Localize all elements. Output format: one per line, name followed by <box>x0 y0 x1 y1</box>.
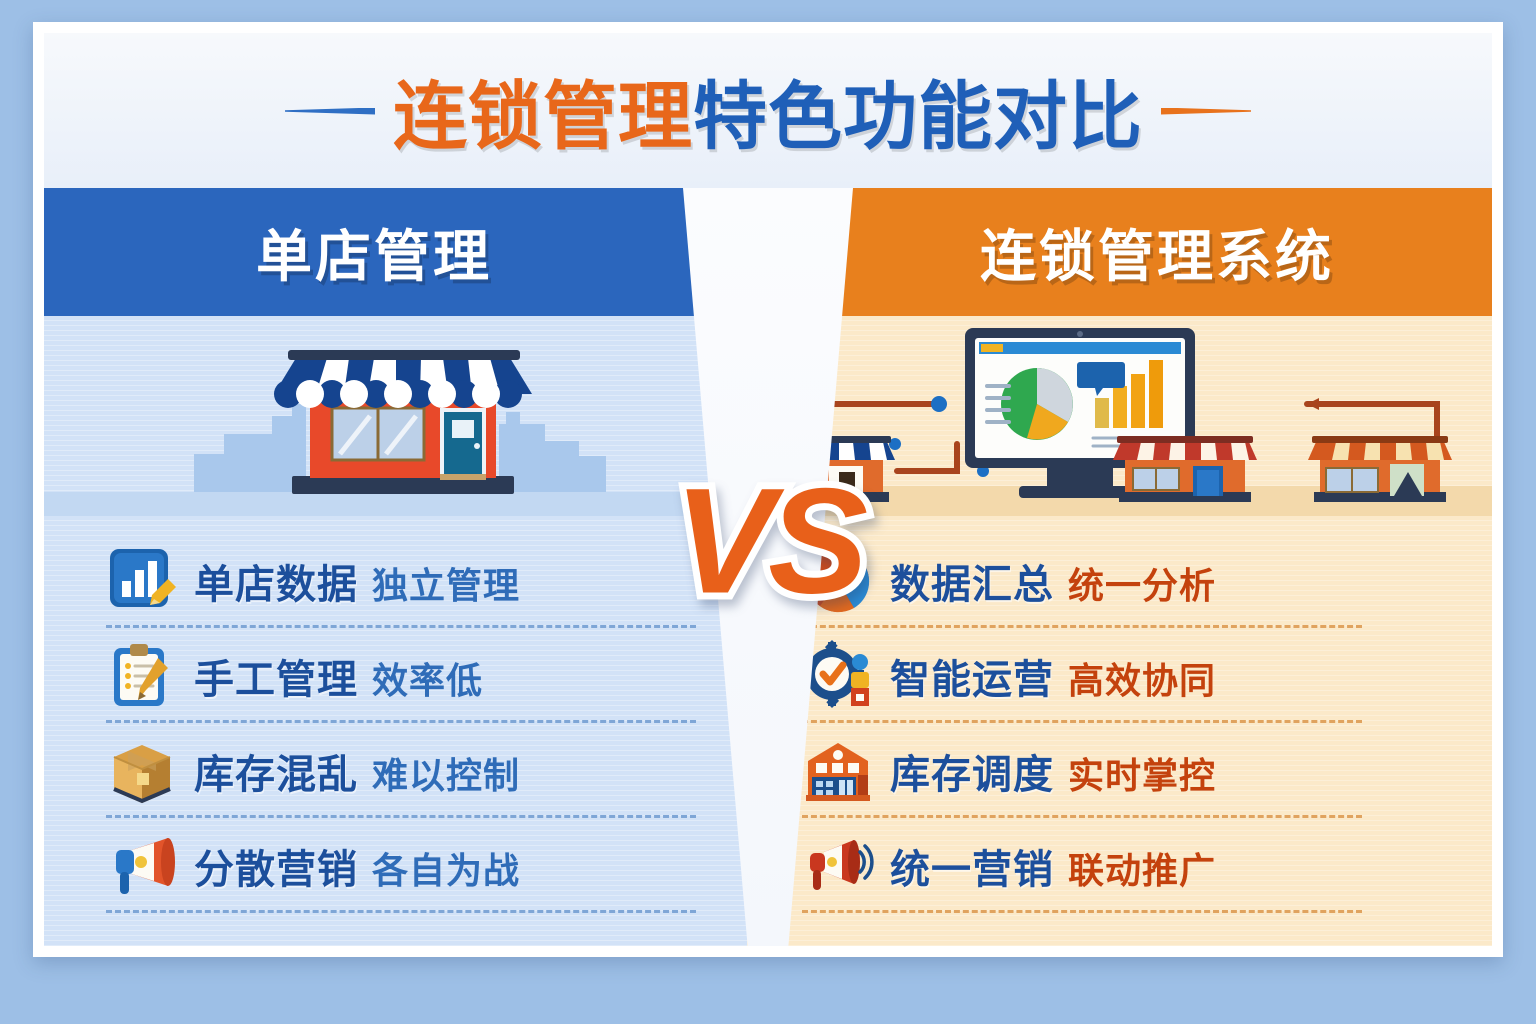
list-item-main: 统一营销 <box>890 837 1054 895</box>
cardboard-box-icon <box>106 735 178 807</box>
list-item: 库存调度 实时掌控 <box>802 723 1362 818</box>
bar-chart-pencil-icon <box>106 545 178 617</box>
list-item-sub: 高效协同 <box>1068 652 1216 704</box>
list-item-main: 库存调度 <box>890 742 1054 800</box>
list-item: 库存混乱 难以控制 <box>106 723 696 818</box>
list-item: 智能运营 高效协同 <box>802 628 1362 723</box>
page-title-blue: 特色功能对比 <box>693 75 1143 158</box>
list-item-main: 分散营销 <box>194 837 358 895</box>
list-item-text: 数据汇总 统一分析 <box>890 552 1216 610</box>
list-item: 统一营销 联动推广 <box>802 818 1362 913</box>
poster-card: 连锁管理特色功能对比 单店管理 <box>33 22 1503 957</box>
right-panel-header-label: 连锁管理系统 <box>980 212 1334 293</box>
list-item-text: 统一营销 联动推广 <box>890 837 1216 895</box>
list-item-main: 手工管理 <box>194 647 358 705</box>
list-item-text: 智能运营 高效协同 <box>890 647 1216 705</box>
left-panel-header-label: 单店管理 <box>256 212 492 293</box>
title-band: 连锁管理特色功能对比 <box>44 33 1492 188</box>
list-item: 数据汇总 统一分析 <box>802 533 1362 628</box>
megaphone-red-icon <box>802 830 874 902</box>
megaphone-blue-icon <box>106 830 178 902</box>
list-item-text: 手工管理 效率低 <box>194 647 483 705</box>
left-feature-list: 单店数据 独立管理 <box>106 533 696 913</box>
list-item: 单店数据 独立管理 <box>106 533 696 628</box>
list-item-sub: 统一分析 <box>1068 557 1216 609</box>
left-panel-header: 单店管理 <box>44 188 744 316</box>
page-title: 连锁管理特色功能对比 <box>393 57 1143 164</box>
list-item-text: 分散营销 各自为战 <box>194 837 520 895</box>
list-item-sub: 效率低 <box>372 652 483 704</box>
right-feature-list: 数据汇总 统一分析 <box>802 533 1362 913</box>
list-item-main: 单店数据 <box>194 552 358 610</box>
list-item-sub: 联动推广 <box>1068 842 1216 894</box>
list-item: 分散营销 各自为战 <box>106 818 696 913</box>
list-item-sub: 独立管理 <box>372 557 520 609</box>
page-title-orange: 连锁管理 <box>393 75 693 158</box>
list-item-text: 单店数据 独立管理 <box>194 552 520 610</box>
poster-inner: 连锁管理特色功能对比 单店管理 <box>44 33 1492 946</box>
list-item-text: 库存调度 实时掌控 <box>890 742 1216 800</box>
list-item-sub: 各自为战 <box>372 842 520 894</box>
title-wrap: 连锁管理特色功能对比 <box>285 57 1251 164</box>
warehouse-icon <box>802 735 874 807</box>
list-item: 手工管理 效率低 <box>106 628 696 723</box>
list-item-main: 智能运营 <box>890 647 1054 705</box>
clipboard-pencil-icon <box>106 640 178 712</box>
list-item-main: 库存混乱 <box>194 742 358 800</box>
list-item-main: 数据汇总 <box>890 552 1054 610</box>
vs-badge: VS <box>674 455 862 628</box>
right-panel-header: 连锁管理系统 <box>792 188 1492 316</box>
list-item-text: 库存混乱 难以控制 <box>194 742 520 800</box>
list-item-sub: 难以控制 <box>372 747 520 799</box>
list-item-sub: 实时掌控 <box>1068 747 1216 799</box>
